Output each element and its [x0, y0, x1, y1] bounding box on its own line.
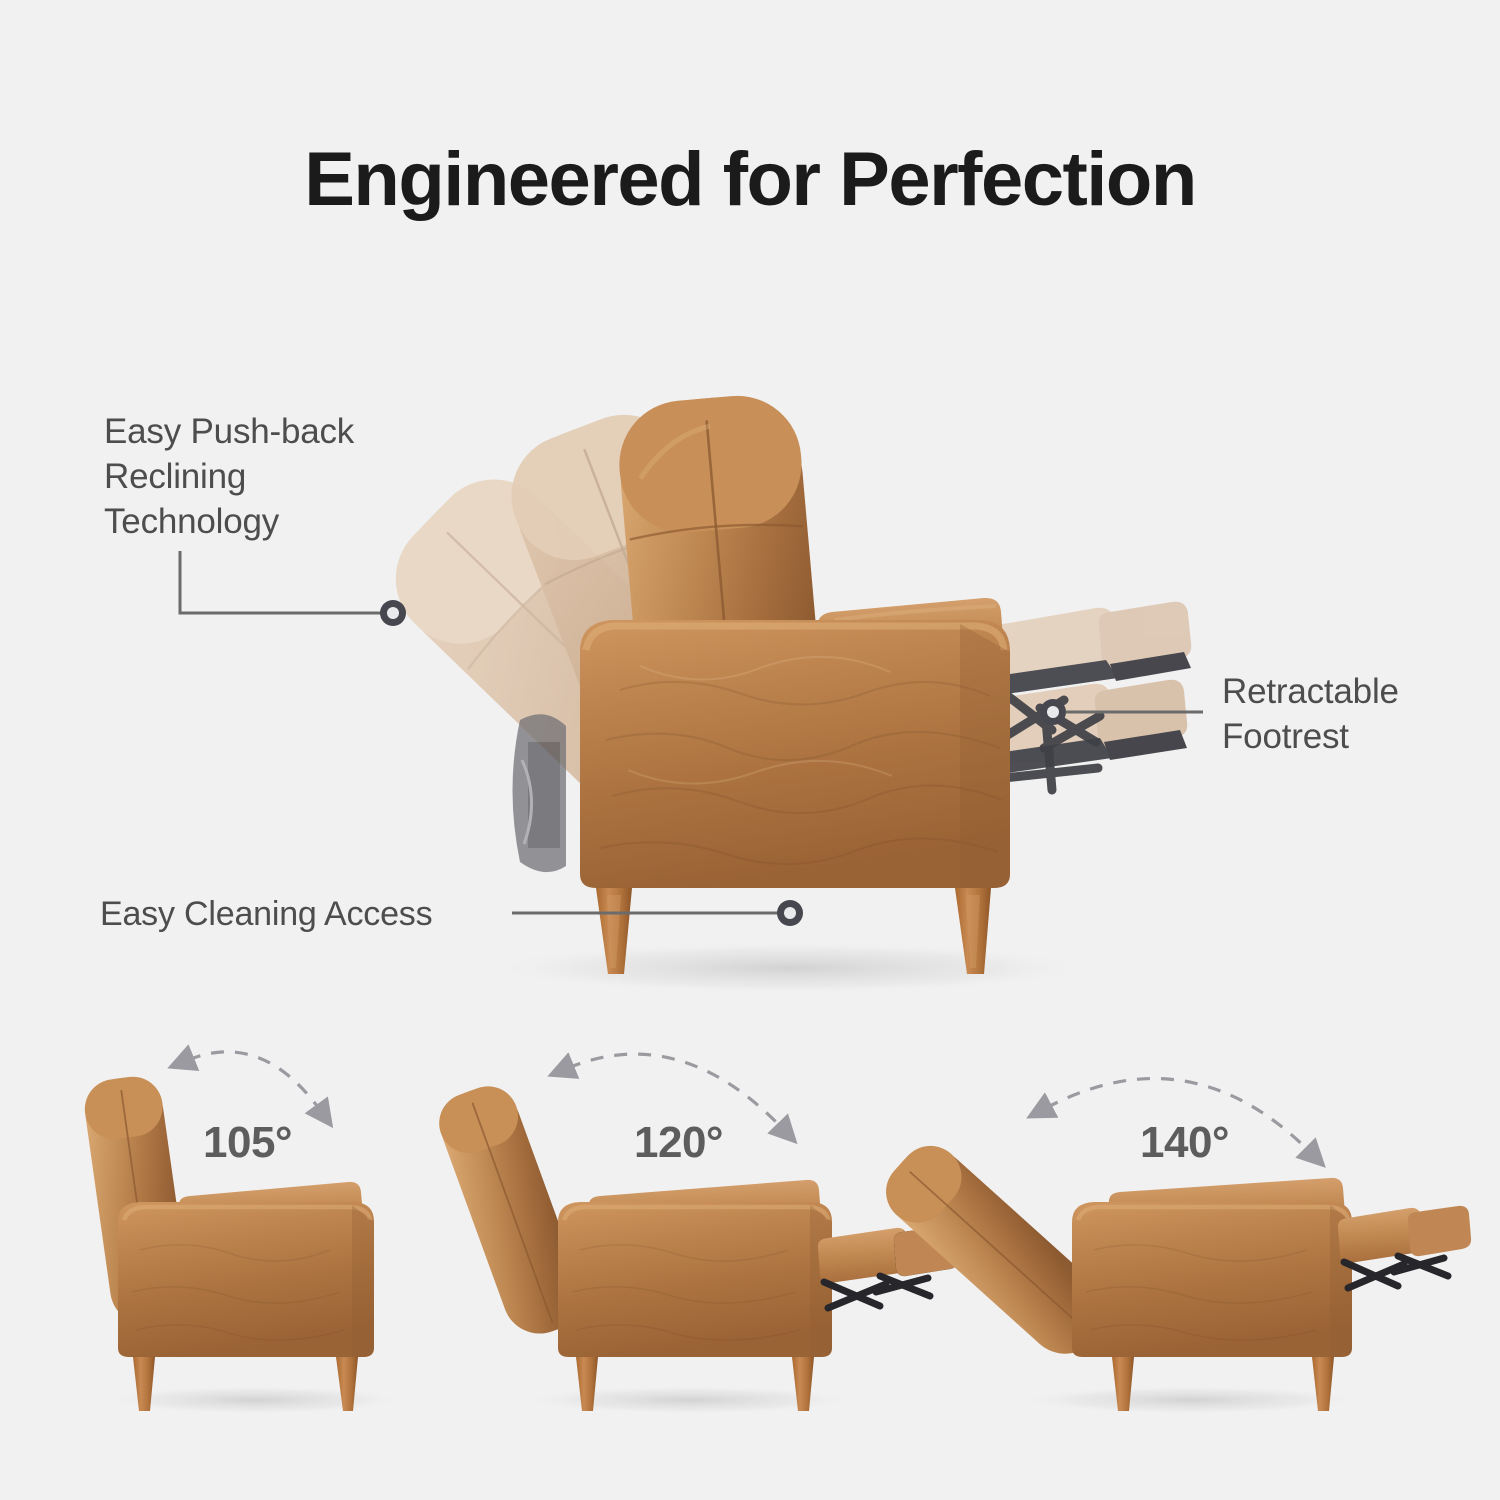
footrest-mechanism-linkage — [998, 690, 1100, 790]
main-chair-body — [580, 620, 1010, 888]
recline-position-1 — [431, 1054, 959, 1414]
floor-shadow — [490, 942, 1090, 994]
main-chair-legs — [596, 888, 991, 974]
ghost-backrest-stage-2 — [493, 397, 795, 814]
ghost-footrest-stages — [971, 602, 1191, 790]
footrest-extended-1 — [818, 1226, 959, 1308]
dashed-double-arrow-arc-icon-1 — [568, 1054, 782, 1128]
callout-label-pushback: Easy Push-back Reclining Technology — [104, 410, 354, 544]
ghost-backrest-stage-1 — [370, 454, 760, 839]
footrest-extended-2 — [1338, 1206, 1471, 1288]
dashed-double-arrow-arc-icon-0 — [188, 1052, 320, 1110]
target-dot-icon-pushback — [380, 600, 406, 626]
infographic-canvas: Engineered for Perfection Easy Push-back… — [0, 0, 1500, 1500]
page-title: Engineered for Perfection — [0, 140, 1500, 220]
callout-label-footrest: Retractable Footrest — [1222, 670, 1399, 760]
leader-line-pushback — [180, 551, 385, 613]
angle-label-120: 120° — [634, 1118, 723, 1168]
recline-mechanism-rear — [513, 714, 567, 872]
recline-position-0 — [81, 1052, 405, 1414]
main-chair-backrest — [614, 391, 830, 807]
angle-label-105: 105° — [203, 1118, 292, 1168]
callout-label-cleaning: Easy Cleaning Access — [100, 893, 432, 937]
angle-label-140: 140° — [1140, 1118, 1229, 1168]
main-chair-arm-rail — [818, 598, 1004, 680]
target-dot-icon-cleaning — [777, 900, 803, 926]
target-dot-icon-footrest — [1040, 699, 1066, 725]
